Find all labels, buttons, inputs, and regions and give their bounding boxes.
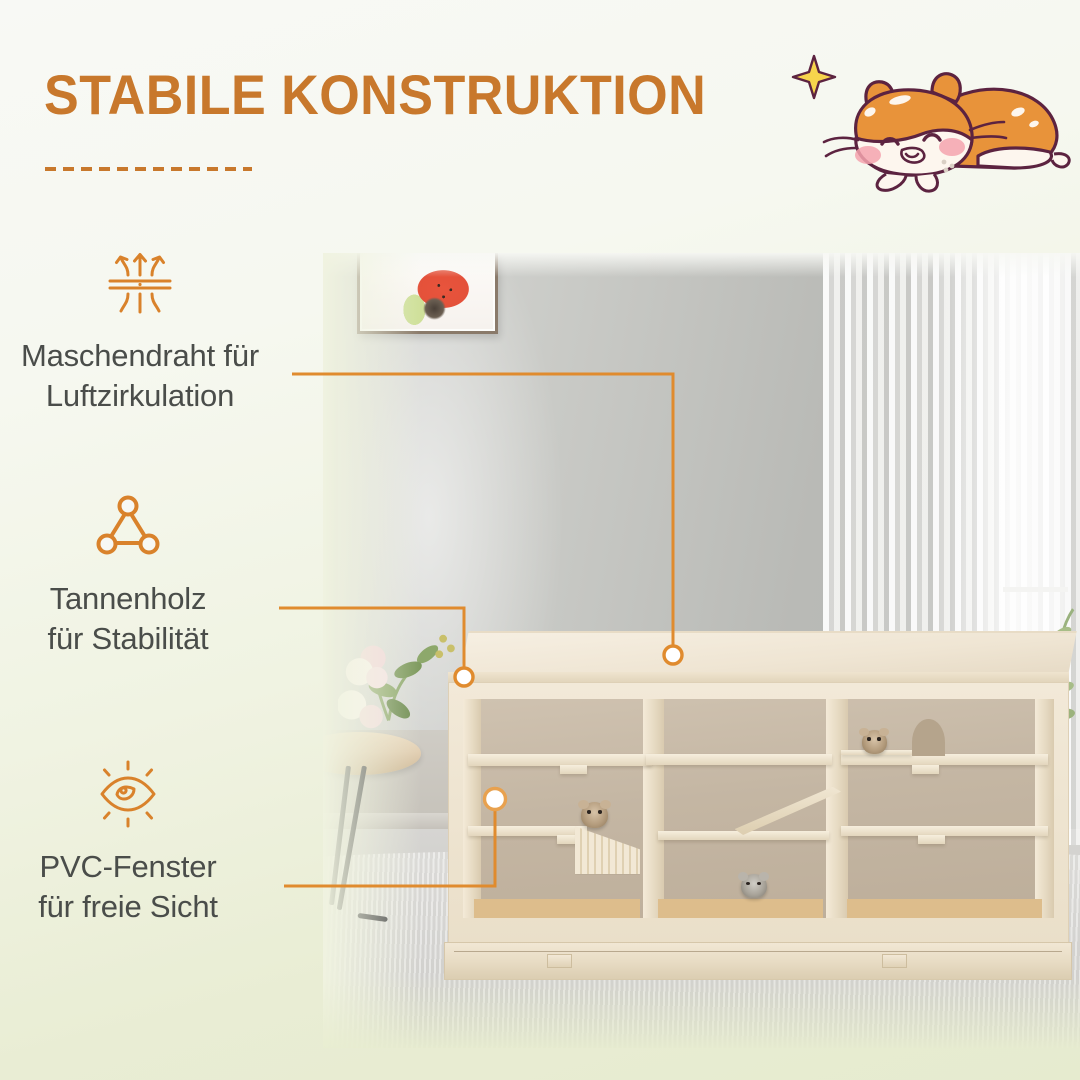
hamster-left — [581, 802, 608, 828]
tray-knob-left — [547, 954, 572, 969]
cage-post-right — [1035, 699, 1054, 918]
feature-air-circulation: Maschendraht für Luftzirkulation — [0, 246, 290, 415]
cage-interior — [463, 699, 1055, 918]
cage-bedding-left — [474, 899, 640, 919]
feature-label: Tannenholz für Stabilität — [0, 579, 278, 658]
hamster-ear-left — [859, 728, 869, 737]
hamster-eye-right — [757, 882, 761, 885]
eye-vision-icon — [0, 757, 278, 831]
infographic-stage: STABILE KONSTRUKTION — [0, 0, 1080, 1080]
feature-fir-wood-stability: Tannenholz für Stabilität — [0, 489, 278, 658]
title-dashed-divider — [45, 167, 252, 171]
feature-label: Maschendraht für Luftzirkulation — [0, 336, 290, 415]
hamster-eye-left — [587, 810, 591, 813]
tray-knob-right — [882, 954, 907, 969]
page-title: STABILE KONSTRUKTION — [44, 62, 706, 127]
cage-post-mid2 — [826, 699, 847, 918]
feature-label: PVC-Fenster für freie Sicht — [0, 847, 278, 926]
hamster-eye-left — [746, 882, 750, 885]
cage-post-mid1 — [643, 699, 664, 918]
product-photo — [323, 253, 1080, 1048]
cage-bedding-mid — [658, 899, 824, 919]
hamster-ear-right — [759, 872, 769, 881]
cage-frame — [448, 682, 1069, 945]
wooden-hamster-cage — [448, 631, 1069, 977]
cage-shelf-tab-mid2 — [918, 835, 945, 844]
hamster-ear-right — [879, 728, 889, 737]
window-frame — [1003, 587, 1068, 593]
tray-seam — [454, 951, 1062, 952]
hamster-ear-left — [738, 872, 748, 881]
hamster-eye-left — [867, 737, 871, 740]
cage-bedding-right — [847, 899, 1042, 919]
picture-hamster — [423, 297, 446, 320]
cage-post-left — [463, 699, 482, 918]
cage-pullout-tray — [444, 942, 1072, 980]
hamster-ear-left — [578, 800, 589, 809]
cage-roof — [460, 631, 1077, 676]
cage-ramp-diagonal — [735, 787, 841, 835]
cage-shelf-tab-right — [912, 765, 939, 774]
framed-watermelon-picture — [357, 253, 498, 334]
triangle-nodes-stability-icon — [0, 489, 278, 563]
hamster-upper-right — [862, 730, 887, 754]
cage-arch-doorway — [912, 719, 945, 756]
sparkle-icon — [793, 56, 835, 98]
hamster-mascot — [782, 48, 1072, 198]
hamster-eye-right — [598, 810, 602, 813]
cage-ramp-left — [575, 826, 640, 874]
feature-pvc-window: PVC-Fenster für freie Sicht — [0, 757, 278, 926]
cage-shelf-tab-left — [560, 765, 587, 774]
cage-shelf-upper-mid — [646, 754, 832, 765]
hamster-ear-right — [600, 800, 611, 809]
air-circulation-icon — [0, 246, 290, 320]
hamster-eye-right — [877, 737, 881, 740]
hamster-bottom-mid — [741, 874, 767, 898]
